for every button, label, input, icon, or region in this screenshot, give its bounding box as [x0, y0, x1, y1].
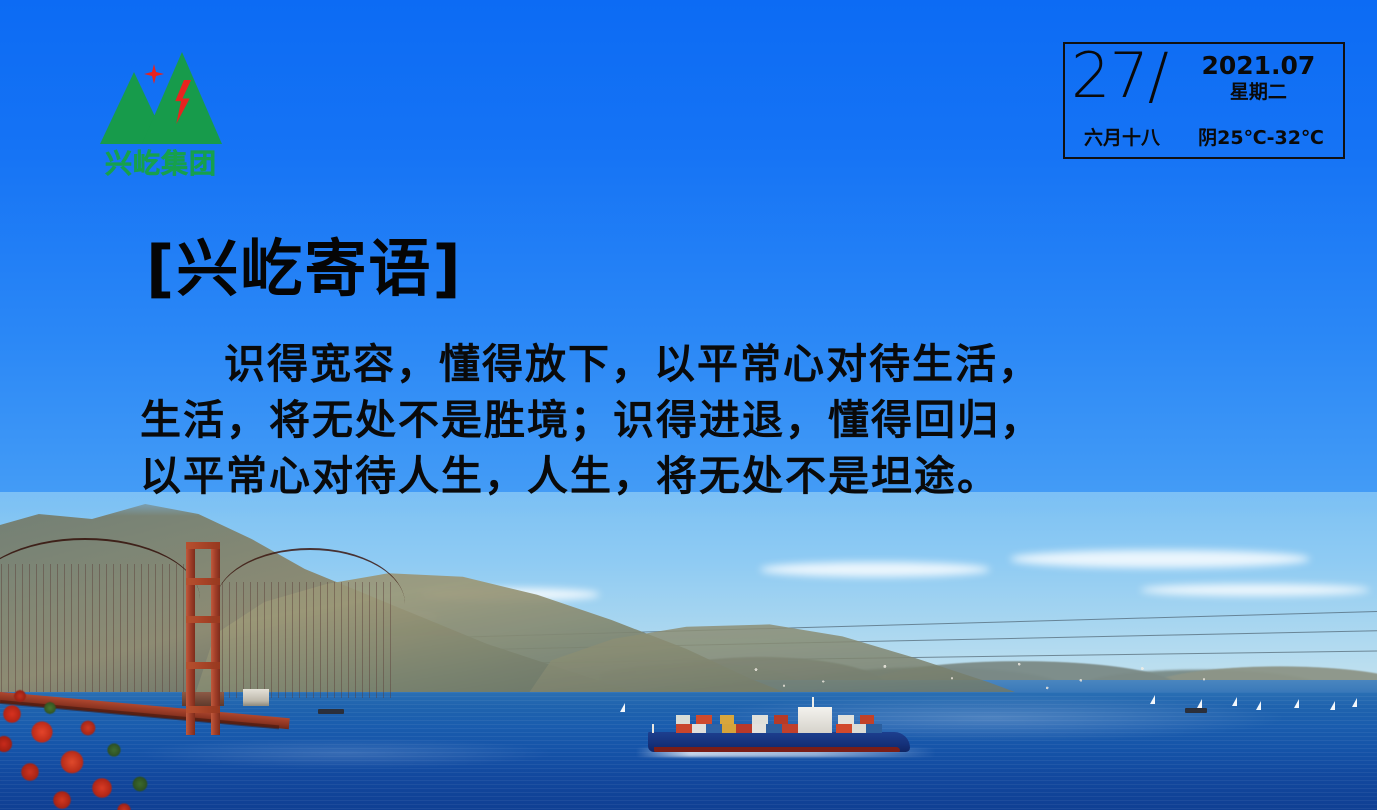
date-card-right-column: 2021.07 星期二: [1174, 52, 1343, 104]
message-line: 以平常心对待人生，人生，将无处不是坦途。: [140, 448, 1215, 504]
container: [838, 715, 854, 724]
container: [860, 715, 874, 724]
ship-hull-stripe: [654, 747, 900, 752]
container: [852, 724, 866, 733]
cloud: [760, 562, 990, 577]
weather-info: 阴25℃-32℃: [1198, 123, 1324, 150]
container: [752, 724, 766, 733]
message-body: 识得宽容，懂得放下，以平常心对待生活， 生活，将无处不是胜境；识得进退，懂得回归…: [140, 336, 1215, 504]
date-card: 27/ 2021.07 星期二 六月十八 阴25℃-32℃: [1063, 42, 1345, 159]
page-title: [兴屹寄语]: [146, 218, 463, 308]
message-line: 识得宽容，懂得放下，以平常心对待生活，: [140, 336, 1215, 392]
container: [766, 724, 782, 733]
bridge-tower: [186, 543, 220, 735]
small-boat: [318, 709, 344, 714]
day-number: 27/: [1071, 44, 1168, 108]
container: [736, 724, 752, 733]
weekday: 星期二: [1174, 80, 1343, 104]
container: [752, 715, 768, 724]
container-ship: [648, 700, 910, 752]
container: [866, 724, 882, 733]
bridge-cable-right: [215, 548, 405, 660]
lunar-date: 六月十八: [1084, 123, 1160, 150]
poster-canvas: 兴屹集团 27/ 2021.07 星期二 六月十八 阴25℃-32℃ [兴屹寄语…: [0, 0, 1377, 810]
ship-superstructure: [798, 707, 832, 733]
container: [774, 715, 788, 724]
ship-bow-mast: [652, 724, 654, 733]
date-card-top-row: 27/ 2021.07 星期二: [1065, 44, 1343, 116]
cloud: [1010, 550, 1310, 568]
star-icon: [144, 64, 164, 84]
container: [706, 724, 722, 733]
bay-photograph: [0, 492, 1377, 810]
cloud: [1140, 584, 1370, 596]
shore-building: [243, 689, 269, 706]
container: [782, 724, 798, 733]
container: [676, 715, 690, 724]
container: [696, 715, 712, 724]
small-boat: [1185, 708, 1207, 713]
date-card-bottom-row: 六月十八 阴25℃-32℃: [1065, 123, 1343, 150]
red-flowers: [0, 688, 164, 810]
container: [720, 715, 734, 724]
container: [836, 724, 852, 733]
company-logo[interactable]: 兴屹集团: [96, 44, 226, 164]
container: [692, 724, 706, 733]
container: [676, 724, 692, 733]
ship-mast: [812, 697, 814, 709]
container: [722, 724, 736, 733]
message-line: 生活，将无处不是胜境；识得进退，懂得回归，: [140, 392, 1215, 448]
logo-text: 兴屹集团: [96, 142, 226, 181]
year-month: 2021.07: [1174, 52, 1343, 80]
